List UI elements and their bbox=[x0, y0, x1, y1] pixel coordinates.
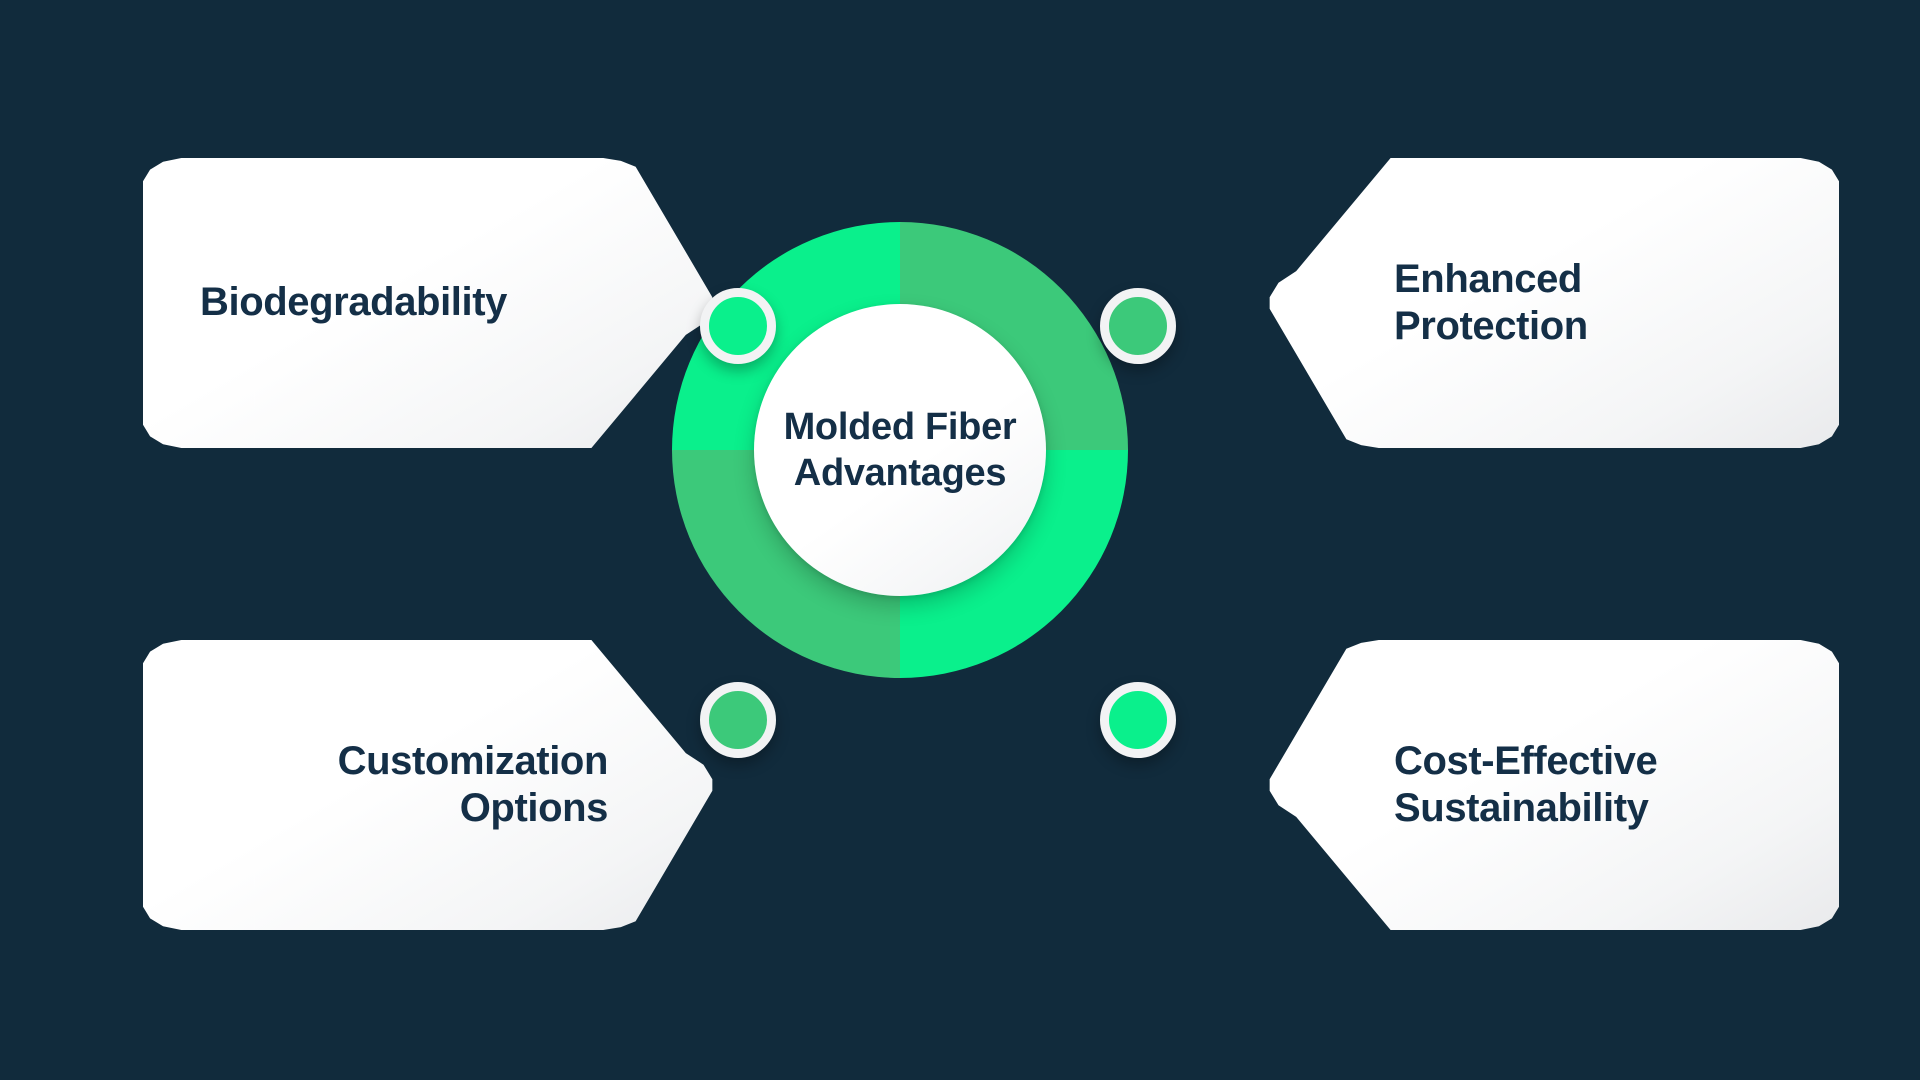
advantage-card-customization-options[interactable]: Customization Options bbox=[143, 640, 733, 930]
connector-node-top-left[interactable] bbox=[700, 288, 776, 364]
infographic-canvas: Biodegradability Enhanced Protection Cus… bbox=[0, 0, 1920, 1080]
connector-node-bottom-right[interactable] bbox=[1100, 682, 1176, 758]
advantage-card-enhanced-protection[interactable]: Enhanced Protection bbox=[1249, 158, 1839, 448]
hub-title: Molded Fiber Advantages bbox=[784, 404, 1017, 497]
connector-node-bottom-left[interactable] bbox=[700, 682, 776, 758]
advantage-card-label: Cost-Effective Sustainability bbox=[1394, 738, 1657, 832]
hub-center-circle: Molded Fiber Advantages bbox=[754, 304, 1046, 596]
advantage-card-label: Enhanced Protection bbox=[1394, 256, 1588, 350]
advantage-card-label: Biodegradability bbox=[200, 279, 507, 326]
advantage-card-biodegradability[interactable]: Biodegradability bbox=[143, 158, 733, 448]
connector-node-top-right[interactable] bbox=[1100, 288, 1176, 364]
advantage-card-label: Customization Options bbox=[338, 738, 608, 832]
advantage-card-cost-effective-sustainability[interactable]: Cost-Effective Sustainability bbox=[1249, 640, 1839, 930]
